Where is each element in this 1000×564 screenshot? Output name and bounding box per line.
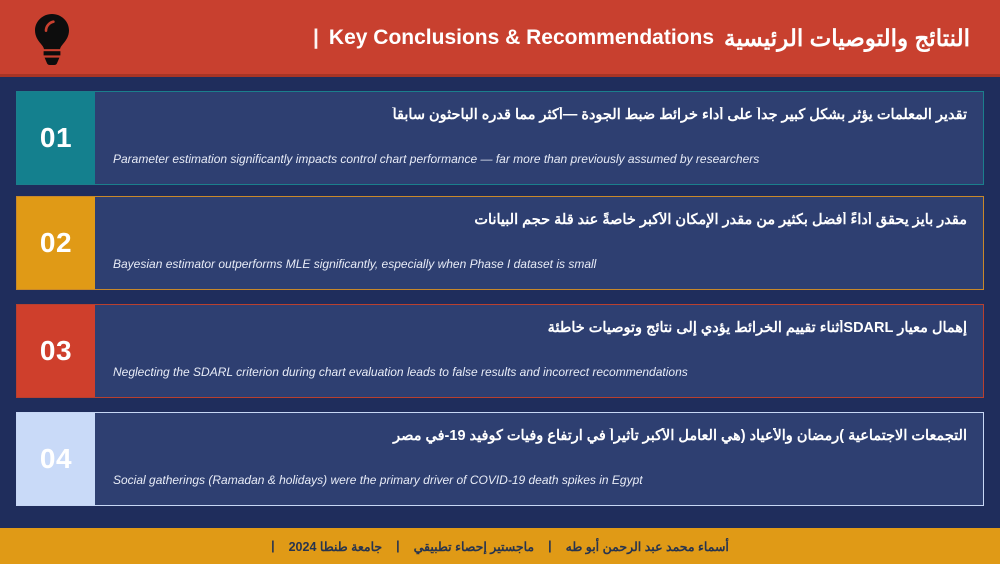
footer-degree: ماجستير إحصاء تطبيقي (414, 539, 535, 554)
card-number-badge: 02 (17, 197, 95, 289)
slide: النتائج والتوصيات الرئيسية Key Conclusio… (0, 0, 1000, 564)
card-text-english: Bayesian estimator outperforms MLE signi… (113, 257, 963, 271)
footer-separator-3: | (271, 539, 275, 553)
footer-separator-1: | (548, 539, 552, 553)
card-body: تقدير المعلمات يؤثر بشكل كبير جداً على أ… (95, 92, 983, 184)
conclusion-card-02[interactable]: 02 مقدر بايز يحقق أداءً أفضل بكثير من مق… (16, 196, 984, 290)
header-underline (0, 74, 1000, 77)
page-title-english: Key Conclusions & Recommendations (329, 26, 714, 50)
page-title-arabic: النتائج والتوصيات الرئيسية (724, 25, 970, 52)
card-body: التجمعات الاجتماعية )رمضان والأعياد (هي … (95, 413, 983, 505)
footer-separator-2: | (396, 539, 400, 553)
conclusion-card-01[interactable]: 01 تقدير المعلمات يؤثر بشكل كبير جداً عل… (16, 91, 984, 185)
slide-header: النتائج والتوصيات الرئيسية Key Conclusio… (0, 0, 1000, 76)
card-number-badge: 03 (17, 305, 95, 397)
title-separator: | (313, 26, 319, 50)
card-text-english: Neglecting the SDARL criterion during ch… (113, 365, 963, 379)
footer-author: أسماء محمد عبد الرحمن أبو طه (566, 539, 729, 554)
slide-footer: أسماء محمد عبد الرحمن أبو طه | ماجستير إ… (0, 528, 1000, 564)
page-title: النتائج والتوصيات الرئيسية Key Conclusio… (313, 0, 970, 76)
card-text-arabic: التجمعات الاجتماعية )رمضان والأعياد (هي … (135, 428, 967, 444)
card-text-arabic: مقدر بايز يحقق أداءً أفضل بكثير من مقدر … (135, 212, 967, 228)
card-body: مقدر بايز يحقق أداءً أفضل بكثير من مقدر … (95, 197, 983, 289)
footer-university: جامعة طنطا 2024 (289, 539, 383, 554)
conclusion-card-03[interactable]: 03 إهمال معيار SDARLأثناء تقييم الخرائط … (16, 304, 984, 398)
card-text-arabic: تقدير المعلمات يؤثر بشكل كبير جداً على أ… (135, 107, 967, 123)
lightbulb-icon (22, 8, 82, 68)
conclusion-card-04[interactable]: 04 التجمعات الاجتماعية )رمضان والأعياد (… (16, 412, 984, 506)
card-text-arabic: إهمال معيار SDARLأثناء تقييم الخرائط يؤد… (135, 320, 967, 336)
card-number-badge: 01 (17, 92, 95, 184)
card-body: إهمال معيار SDARLأثناء تقييم الخرائط يؤد… (95, 305, 983, 397)
card-number-badge: 04 (17, 413, 95, 505)
card-text-english: Parameter estimation significantly impac… (113, 152, 963, 166)
card-text-english: Social gatherings (Ramadan & holidays) w… (113, 473, 963, 487)
footer-content: أسماء محمد عبد الرحمن أبو طه | ماجستير إ… (271, 539, 729, 554)
conclusions-list: 01 تقدير المعلمات يؤثر بشكل كبير جداً عل… (16, 91, 984, 510)
